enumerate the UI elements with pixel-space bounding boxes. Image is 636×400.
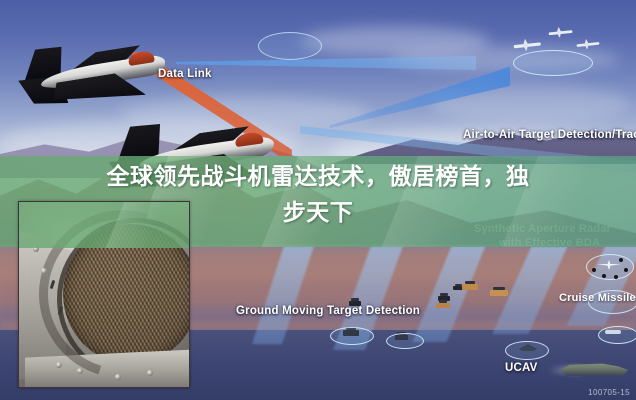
- label-cruise-missile: Cruise Missile: [559, 292, 636, 304]
- label-ucav: UCAV: [505, 362, 538, 374]
- headline-line-1: 全球领先战斗机雷达技术，傲居榜首，独: [0, 158, 636, 194]
- site-marker-dot: [624, 268, 628, 272]
- target-track-ring: [513, 50, 593, 76]
- label-air-to-air-target-detection: Air-to-Air Target Detection/Track: [463, 129, 636, 141]
- site-marker-dot: [592, 268, 596, 272]
- mount-bolt: [33, 246, 39, 252]
- headline-line-2: 步天下: [0, 194, 636, 230]
- ground-vehicle: [462, 284, 478, 290]
- mount-bolt: [77, 368, 83, 374]
- image-watermark: 100705-15: [588, 388, 630, 397]
- screenshot-root: Data Link Air-to-Air Target Detection/Tr…: [0, 0, 636, 400]
- site-marker-dot: [602, 274, 606, 278]
- mount-bolt: [56, 362, 62, 368]
- ground-vehicle: [436, 303, 450, 308]
- headline-text: 全球领先战斗机雷达技术，傲居榜首，独 步天下: [0, 158, 636, 230]
- site-marker-dot: [619, 258, 623, 262]
- target-track-ring: [505, 341, 549, 360]
- mount-bolt: [115, 374, 121, 380]
- target-track-ring: [330, 327, 374, 345]
- target-track-ring: [386, 333, 424, 349]
- target-track-ring: [258, 32, 322, 60]
- target-track-ring: [598, 326, 636, 344]
- cloud: [430, 84, 630, 124]
- label-data-link: Data Link: [158, 68, 212, 80]
- mount-bolt: [147, 370, 153, 376]
- site-marker-dot: [614, 275, 618, 279]
- mount-bolt: [41, 268, 47, 274]
- air-defense-site: [586, 252, 634, 282]
- ground-vehicle: [490, 290, 508, 296]
- label-ground-moving-target-detection: Ground Moving Target Detection: [236, 305, 420, 317]
